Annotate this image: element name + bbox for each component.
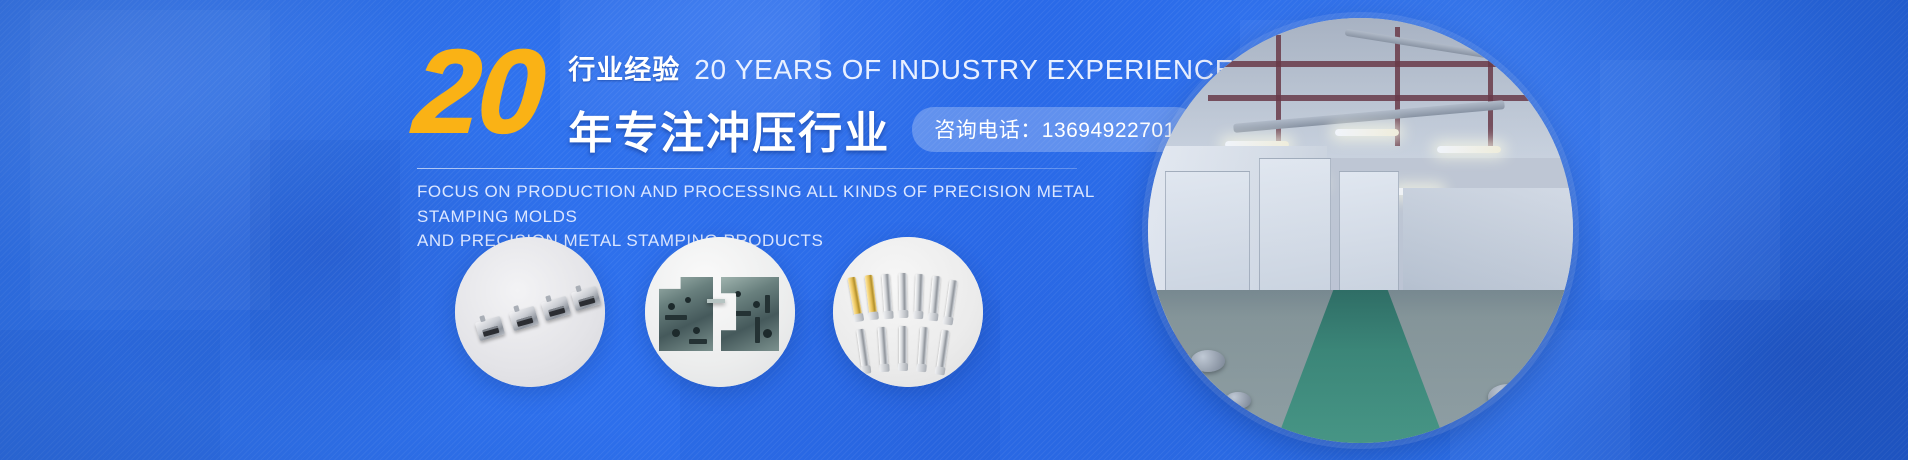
banner-content: 20 行业经验 20 YEARS OF INDUSTRY EXPERIENCE …: [0, 0, 1908, 460]
factory-photo-circle: [1148, 18, 1573, 443]
stamping-mold-photo: [645, 237, 795, 387]
cn-experience-label: 行业经验: [568, 48, 680, 87]
headline-divider: [417, 168, 1077, 169]
subheadline-line-1: FOCUS ON PRODUCTION AND PROCESSING ALL K…: [417, 180, 1117, 229]
product-circle-stamping-mold: [645, 237, 795, 387]
terminal-pins-photo: [833, 237, 983, 387]
product-circle-terminal-pins: [833, 237, 983, 387]
headline-row: 20 行业经验 20 YEARS OF INDUSTRY EXPERIENCE …: [415, 42, 1234, 161]
headline-text-group: 行业经验 20 YEARS OF INDUSTRY EXPERIENCE 年专注…: [568, 42, 1234, 161]
promo-banner: 20 行业经验 20 YEARS OF INDUSTRY EXPERIENCE …: [0, 0, 1908, 460]
years-number-badge: 20: [411, 42, 545, 143]
product-circle-usb-connectors: [455, 237, 605, 387]
cn-headline: 年专注冲压行业: [568, 97, 890, 161]
factory-workshop-photo: [1148, 18, 1573, 443]
headline-line-1: 行业经验 20 YEARS OF INDUSTRY EXPERIENCE: [568, 48, 1234, 87]
headline-line-2: 年专注冲压行业 咨询电话：13694922701: [568, 97, 1234, 161]
usb-connector-photo: [455, 237, 605, 387]
factory-photo-tint: [1148, 18, 1573, 443]
